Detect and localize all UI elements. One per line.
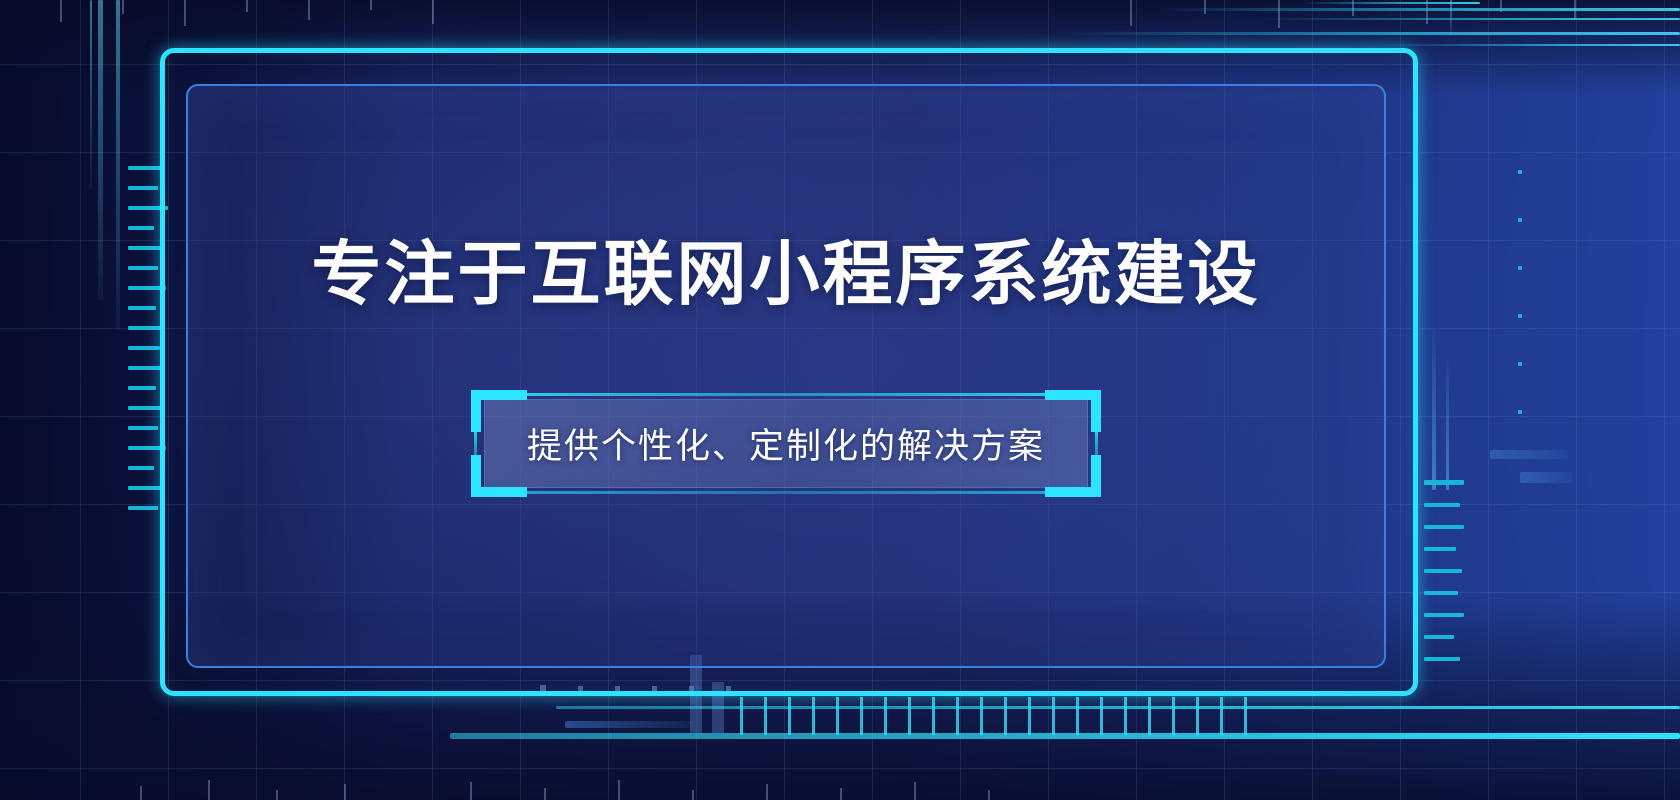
decor-vbar-5: [1432, 330, 1436, 490]
decor-hline-thick: [450, 733, 1680, 739]
decor-softbar-2: [1520, 472, 1572, 483]
bracket-edge-left: [474, 432, 477, 455]
bracket-edge-top: [527, 393, 1045, 396]
decor-bottom-softbar: [565, 721, 693, 728]
bracket-edge-bottom: [527, 491, 1045, 494]
page-subtitle: 提供个性化、定制化的解决方案: [527, 427, 1045, 466]
decor-streak-4: [1380, 44, 1680, 46]
decor-softbar-1: [1490, 450, 1568, 459]
decor-vbar-1: [98, 0, 103, 300]
decor-vbar-6: [1446, 360, 1449, 490]
decor-bottom-tick-row: [740, 695, 1247, 735]
bracket-corner-top-right-vertical: [1091, 390, 1101, 432]
bracket-edge-right: [1095, 432, 1098, 455]
bracket-corner-bottom-right-vertical: [1091, 455, 1101, 497]
decor-streak-1: [1160, 8, 1680, 11]
decor-streak-3: [1060, 32, 1680, 35]
decor-bottom-base-ticks: [470, 780, 990, 800]
subtitle-bracket-group: 提供个性化、定制化的解决方案: [484, 399, 1088, 488]
bracket-corner-top-left-vertical: [471, 390, 481, 432]
subtitle-panel: 提供个性化、定制化的解决方案: [484, 399, 1088, 488]
bracket-corner-bottom-left-vertical: [471, 455, 481, 497]
decor-vbar-2: [116, 0, 120, 330]
decor-vbar-3: [90, 0, 92, 190]
decor-vbar-4: [1450, 0, 1452, 36]
decor-streak-2: [1260, 18, 1680, 20]
banner-content: 专注于互联网小程序系统建设 提供个性化、定制化的解决方案: [186, 84, 1386, 668]
decor-top-tick-row-right: [1130, 0, 1576, 28]
decor-hline-thin: [556, 706, 1680, 709]
page-title: 专注于互联网小程序系统建设: [312, 236, 1261, 313]
decor-streak-5: [1300, 2, 1480, 4]
decor-right-tick-column: [1518, 170, 1522, 414]
decor-right-dash-stack: [1424, 480, 1464, 661]
decor-bottom-base-ticks-left: [140, 780, 346, 800]
